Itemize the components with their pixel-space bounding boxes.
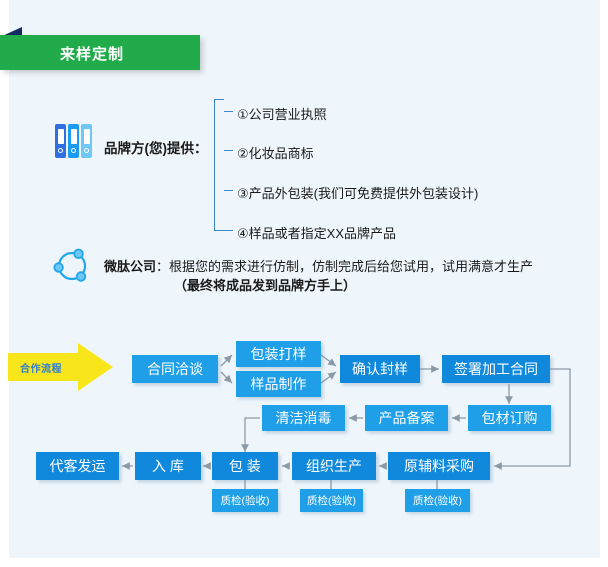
flow-node-sample-production[interactable]: 样品制作	[236, 371, 321, 397]
flow-node-warehousing[interactable]: 入 库	[135, 452, 201, 480]
flow-node-sign-processing-contract[interactable]: 签署加工合同	[442, 355, 550, 383]
company-statement-text: 根据您的需求进行仿制，仿制完成后给您试用，试用满意才生产	[169, 259, 533, 274]
banner-title: 来样定制	[60, 43, 200, 64]
requirement-item-4: ④样品或者指定XX品牌产品	[237, 223, 396, 242]
company-name: 微肽公司	[104, 259, 156, 274]
requirement-item-1: ①公司营业执照	[237, 104, 327, 123]
binders-icon	[55, 124, 95, 158]
bracket-tick-2	[224, 150, 233, 151]
bracket-tick-4	[224, 230, 233, 231]
flow-node-sample-confirmation[interactable]: 确认封样	[340, 355, 420, 383]
bracket-tick-1	[224, 111, 233, 112]
flow-node-cleaning-disinfection[interactable]: 清洁消毒	[262, 405, 345, 431]
company-statement-line1: 微肽公司：根据您的需求进行仿制，仿制完成后给您试用，试用满意才生产	[104, 256, 533, 275]
requirement-item-3: ③产品外包装(我们可免费提供外包装设计)	[237, 183, 478, 202]
page-root: 来样定制 品牌方(您)提供： ①公司营业执照 ②化妆品商标 ③产品外包装(我们可…	[0, 0, 608, 567]
flow-node-packaging-material-order[interactable]: 包材订购	[468, 405, 551, 431]
brand-provides-label: 品牌方(您)提供：	[104, 137, 208, 157]
process-arrow-label: 合作流程	[20, 360, 62, 375]
flow-node-quality-check-2[interactable]: 质检(验收)	[300, 489, 363, 512]
requirements-bracket	[214, 99, 224, 231]
flow-node-product-filing[interactable]: 产品备案	[365, 405, 448, 431]
requirement-item-2: ②化妆品商标	[237, 143, 314, 162]
flow-node-organize-production[interactable]: 组织生产	[292, 452, 376, 480]
flow-node-packaging-proofing[interactable]: 包装打样	[236, 341, 321, 367]
flow-node-consignment-shipping[interactable]: 代客发运	[36, 452, 119, 480]
flow-node-packaging[interactable]: 包 装	[212, 452, 278, 480]
flow-node-quality-check-1[interactable]: 质检(验收)	[212, 489, 278, 512]
network-share-icon	[53, 247, 91, 285]
company-separator: ：	[156, 259, 169, 274]
flow-node-quality-check-3[interactable]: 质检(验收)	[405, 489, 470, 512]
company-statement-line2: （最终将成品发到品牌方手上）	[174, 275, 356, 294]
flow-node-raw-material-purchase[interactable]: 原辅料采购	[388, 452, 490, 480]
flow-node-contract-negotiation[interactable]: 合同洽谈	[132, 355, 218, 383]
bracket-tick-3	[224, 190, 233, 191]
